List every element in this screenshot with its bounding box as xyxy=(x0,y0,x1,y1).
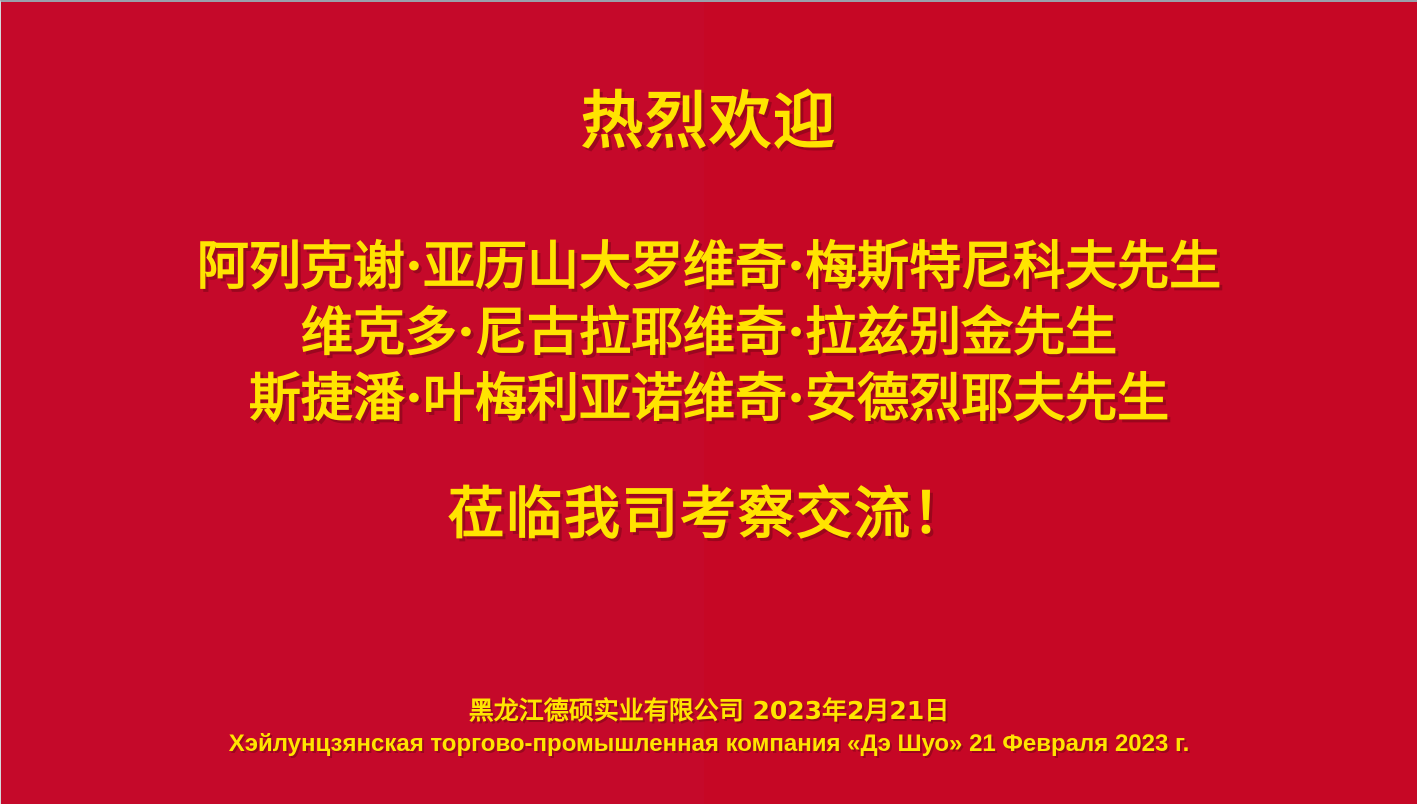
welcome-statement: 莅临我司考察交流！ xyxy=(1,484,1417,546)
page-title: 热烈欢迎 xyxy=(1,88,1417,153)
guest-name-line: 斯捷潘·叶梅利亚诺维奇·安德烈耶夫先生 xyxy=(1,366,1417,432)
guest-name-list: 阿列克谢·亚历山大罗维奇·梅斯特尼科夫先生 维克多·尼古拉耶维奇·拉兹别金先生 … xyxy=(1,234,1417,432)
slide-content-layer: 热烈欢迎 阿列克谢·亚历山大罗维奇·梅斯特尼科夫先生 维克多·尼古拉耶维奇·拉兹… xyxy=(1,2,1417,804)
guest-name-line: 维克多·尼古拉耶维奇·拉兹别金先生 xyxy=(1,300,1417,366)
guest-name-line: 阿列克谢·亚历山大罗维奇·梅斯特尼科夫先生 xyxy=(1,234,1417,300)
footer-russian-line: Хэйлунцзянская торгово-промышленная комп… xyxy=(1,728,1417,760)
footer-chinese-line: 黑龙江德硕实业有限公司 2023年2月21日 xyxy=(1,694,1417,728)
footer: 黑龙江德硕实业有限公司 2023年2月21日 Хэйлунцзянская то… xyxy=(1,694,1417,760)
welcome-slide: 热烈欢迎 阿列克谢·亚历山大罗维奇·梅斯特尼科夫先生 维克多·尼古拉耶维奇·拉兹… xyxy=(0,0,1417,804)
